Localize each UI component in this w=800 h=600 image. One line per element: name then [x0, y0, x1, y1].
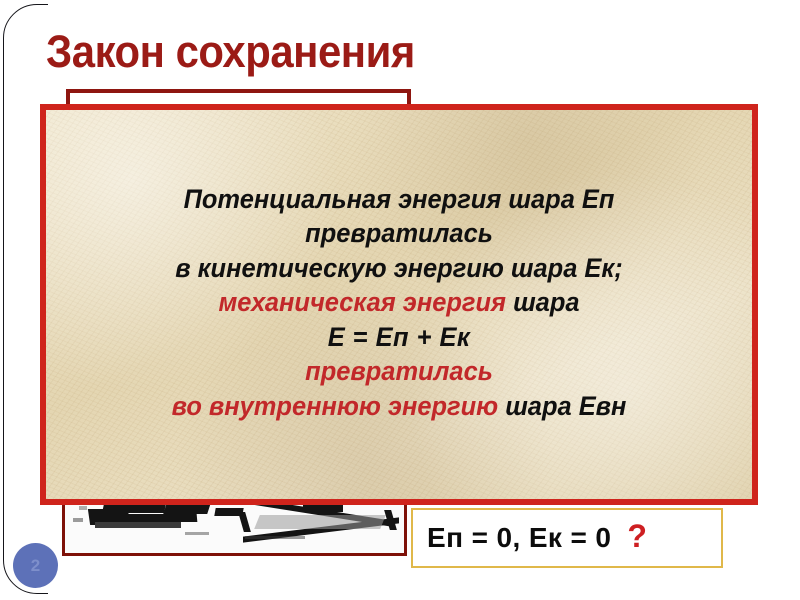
content-line-2-text: превратилась — [305, 218, 493, 248]
content-line-2: превратилась — [70, 216, 729, 250]
content-line-1: Потенциальная энергия шара Еп — [70, 182, 729, 216]
sketch-shape — [125, 514, 198, 522]
content-line-1-text: Потенциальная энергия шара Еп — [184, 184, 615, 214]
sketch-shape — [238, 512, 251, 532]
content-line-6: превратилась — [70, 354, 729, 388]
content-line-3: в кинетическую энергию шара Ек; — [70, 251, 729, 285]
slide-number-badge: 2 — [13, 543, 58, 588]
question-mark-icon: ? — [627, 520, 647, 552]
answer-formula-text: Еп = 0, Ек = 0 — [427, 522, 611, 554]
content-line-7-black-text: шара Евн — [498, 391, 626, 421]
sketch-shape — [185, 532, 209, 535]
sketch-shape — [95, 522, 181, 528]
content-line-6-text: превратилась — [305, 356, 493, 386]
content-line-5-formula: Е = Еп + Ек — [70, 320, 729, 354]
content-line-4: механическая энергия шара — [70, 285, 729, 319]
sketch-shape — [254, 515, 386, 529]
content-line-7: во внутреннюю энергию шара Евн — [70, 389, 729, 423]
content-line-3-text: в кинетическую энергию шара Ек; — [175, 253, 623, 283]
sketch-shape — [73, 518, 83, 522]
bottom-sketch-frame — [62, 500, 407, 556]
sketch-shape — [245, 536, 305, 539]
slide-canvas: Закон сохранения Потенциальная энергия ш… — [0, 0, 800, 600]
main-content-panel: Потенциальная энергия шара Еп превратила… — [40, 104, 758, 505]
content-line-4-black-text: шара — [506, 287, 580, 317]
answer-box: Еп = 0, Ек = 0 ? — [411, 508, 723, 568]
sketch-shape — [79, 506, 87, 510]
content-line-5-text: Е = Еп + Ек — [328, 322, 471, 352]
content-line-4-red-text: механическая энергия — [218, 287, 506, 317]
content-line-7-red-text: во внутреннюю энергию — [172, 391, 499, 421]
page-title: Закон сохранения — [46, 28, 415, 75]
